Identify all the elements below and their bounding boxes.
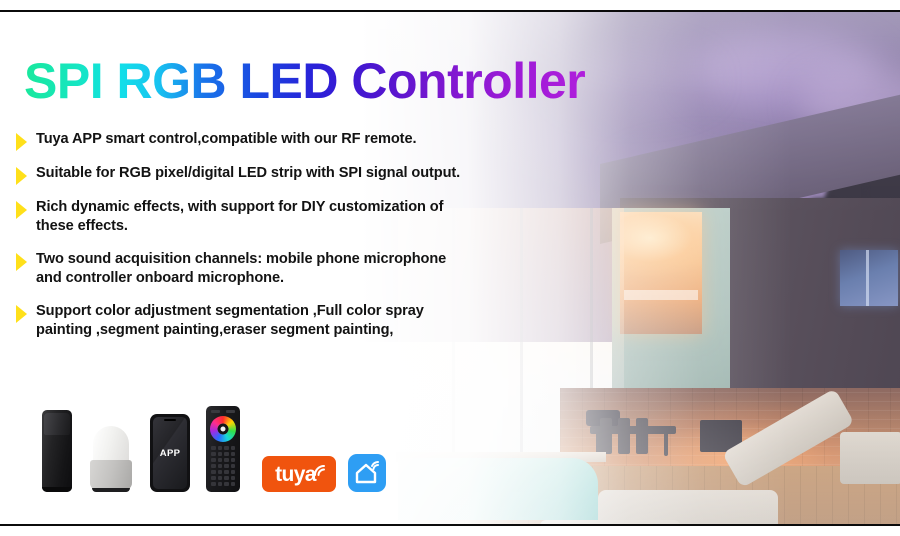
list-item: Rich dynamic effects, with support for D… [16,198,596,237]
remote-key [218,446,223,450]
remote-key [224,464,229,468]
content-layer: SPI RGB LED Controller Tuya APP smart co… [0,0,900,536]
phone-notch [164,419,176,421]
remote-key [231,464,236,468]
remote-key [218,482,223,486]
remote-button [226,410,235,413]
remote-key [231,470,236,474]
feature-text: Suitable for RGB pixel/digital LED strip… [36,164,460,183]
smart-life-logo [348,454,386,492]
google-home-base [90,460,132,490]
list-item: Suitable for RGB pixel/digital LED strip… [16,164,596,185]
feature-text: Tuya APP smart control,compatible with o… [36,130,416,149]
bottom-divider [0,524,900,526]
remote-key [218,476,223,480]
remote-key [211,452,216,456]
remote-key [211,476,216,480]
remote-key [218,470,223,474]
remote-key [224,470,229,474]
remote-key [211,464,216,468]
app-label: APP [160,448,180,459]
feature-text: Rich dynamic effects, with support for D… [36,198,443,237]
color-wheel-icon [210,416,236,442]
google-home-icon [90,426,132,492]
compatibility-strip: APP tuya [42,396,386,492]
remote-key [224,446,229,450]
remote-key [224,476,229,480]
remote-key [231,482,236,486]
amazon-echo-icon [42,410,72,492]
remote-key [224,452,229,456]
triangle-bullet-icon [16,201,27,219]
triangle-bullet-icon [16,167,27,185]
list-item: Two sound acquisition channels: mobile p… [16,250,596,289]
feature-list: Tuya APP smart control,compatible with o… [16,130,596,353]
remote-button [211,410,220,413]
remote-key [211,446,216,450]
remote-top-buttons [211,410,235,413]
triangle-bullet-icon [16,305,27,323]
remote-key [218,452,223,456]
remote-key [218,458,223,462]
list-item: Support color adjustment segmentation ,F… [16,302,596,341]
google-home-top [93,426,129,464]
feature-text: Support color adjustment segmentation ,F… [36,302,424,341]
remote-key [218,464,223,468]
feature-text: Two sound acquisition channels: mobile p… [36,250,446,289]
remote-key [231,446,236,450]
page-title: SPI RGB LED Controller [24,56,585,106]
rf-remote-icon [206,406,240,492]
remote-key [224,458,229,462]
list-item: Tuya APP smart control,compatible with o… [16,130,596,151]
remote-key [231,476,236,480]
phone-screen: APP [153,417,187,489]
tuya-logo: tuya [262,456,336,492]
product-banner: SPI RGB LED Controller Tuya APP smart co… [0,0,900,536]
remote-key [231,452,236,456]
remote-key [211,458,216,462]
remote-key [224,482,229,486]
top-divider [0,10,900,12]
remote-key [231,458,236,462]
remote-key [211,482,216,486]
triangle-bullet-icon [16,133,27,151]
triangle-bullet-icon [16,253,27,271]
wifi-signal-icon [314,463,327,481]
remote-keypad [209,446,237,486]
home-wifi-icon [353,459,381,487]
smartphone-app-icon: APP [150,414,190,492]
remote-key [211,470,216,474]
